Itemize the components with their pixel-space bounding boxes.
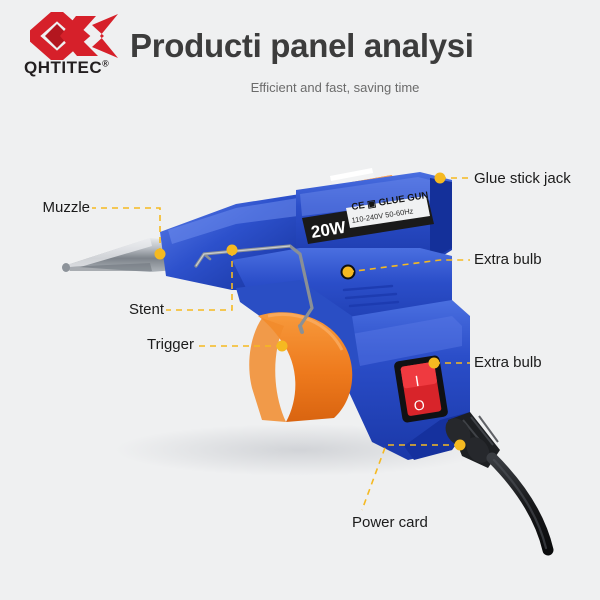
dot-extra-bulb-bottom — [429, 358, 440, 369]
dot-glue-stick-jack — [435, 173, 446, 184]
dot-extra-bulb-top — [343, 267, 354, 278]
brand-logo: QHTITEC® — [24, 12, 128, 84]
page-subtitle: Efficient and fast, saving time — [130, 80, 540, 95]
rear-cap — [430, 178, 452, 260]
power-cord — [492, 458, 548, 550]
brand-name: QHTITEC — [24, 58, 102, 77]
brand-wordmark: QHTITEC® — [24, 58, 128, 78]
dot-stent — [227, 245, 238, 256]
qhtitec-logo-mark-icon — [30, 12, 122, 60]
glue-gun-illustration: 20W CE ▣ GLUE GUN 110-240V 50-60Hz I O — [0, 120, 600, 560]
dot-muzzle — [155, 249, 166, 260]
infographic-canvas: QHTITEC® Producti panel analysi Efficien… — [0, 0, 600, 600]
registered-trademark-icon: ® — [102, 58, 109, 68]
page-title: Producti panel analysi — [130, 27, 540, 65]
power-switch[interactable]: I O — [393, 355, 448, 423]
dot-power-card — [455, 440, 466, 451]
dot-trigger — [277, 341, 288, 352]
